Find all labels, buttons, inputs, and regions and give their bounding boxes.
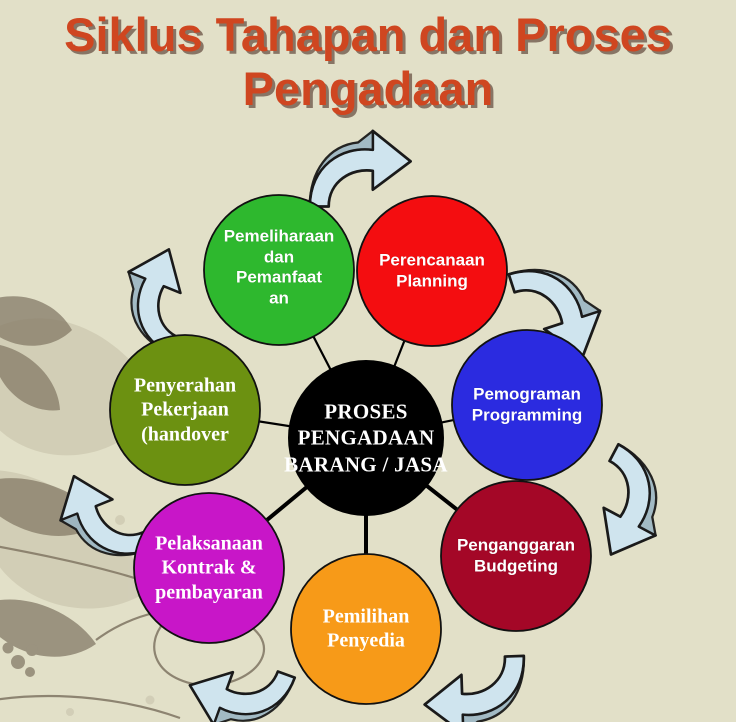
- arrow-pemilihan-to-pelaksanaan: [180, 645, 295, 722]
- arrow-pemeliharaan-to-perencanaan: [310, 131, 411, 207]
- node-circle-pemeliharaan[interactable]: [204, 195, 354, 345]
- node-circle-pemilihan[interactable]: [291, 554, 441, 704]
- cycle-diagram: [0, 0, 736, 722]
- center-hub-circle[interactable]: [288, 360, 444, 516]
- arrow-penganggaran-to-pemilihan: [423, 656, 526, 722]
- node-circle-pemograman[interactable]: [452, 330, 602, 480]
- node-circle-penyerahan[interactable]: [110, 335, 260, 485]
- node-circle-pelaksanaan[interactable]: [134, 493, 284, 643]
- diagram-canvas: Siklus Tahapan dan Proses Pengadaan: [0, 0, 736, 722]
- node-circle-perencanaan[interactable]: [357, 196, 507, 346]
- node-circle-penganggaran[interactable]: [441, 481, 591, 631]
